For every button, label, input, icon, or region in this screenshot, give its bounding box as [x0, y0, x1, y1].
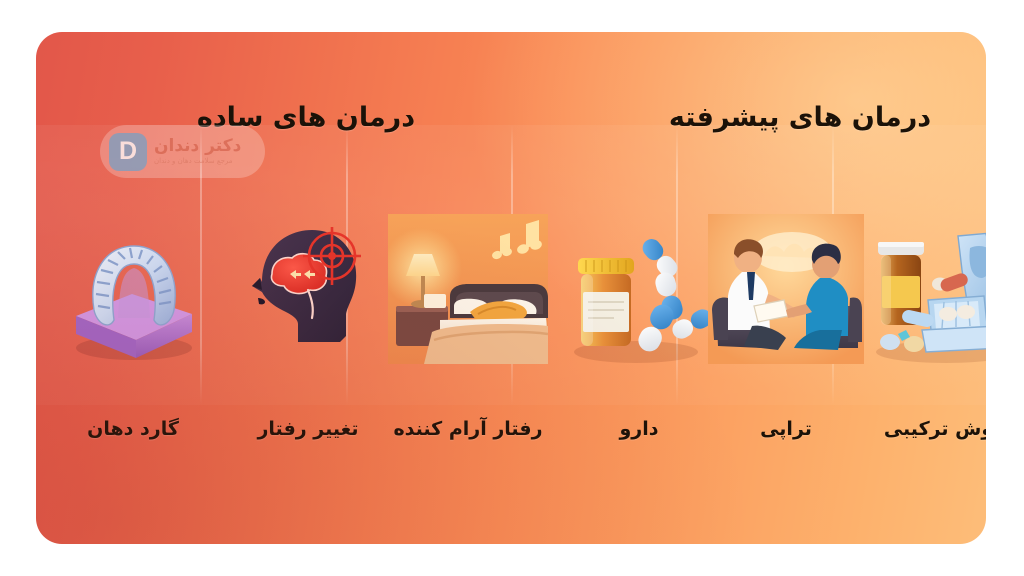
heading-advanced-treatments: درمان های پیشرفته	[654, 102, 946, 133]
tile-combined-approach[interactable]	[866, 218, 986, 373]
watermark-text: دکتر دندان مرجع سلامت دهان و دندان	[154, 138, 241, 165]
tile-label-mouth-guard: گارد دهان	[43, 418, 223, 440]
tile-medication[interactable]	[564, 220, 714, 375]
bedroom-relaxation-illustration	[388, 214, 548, 364]
combined-medication-tray-illustration	[866, 218, 986, 368]
infographic-card: درمان های ساده درمان های پیشرفته	[36, 32, 986, 544]
tile-label-behavior-change: تغییر رفتار	[218, 418, 398, 440]
head-brain-target-illustration	[232, 212, 382, 362]
brand-logo-letter: D	[119, 139, 137, 164]
tile-therapy[interactable]	[708, 214, 864, 369]
brand-logo-icon: D	[109, 133, 147, 171]
infographic-stage: درمان های ساده درمان های پیشرفته	[0, 0, 1024, 576]
mouth-guard-illustration	[58, 220, 208, 370]
watermark-badge: D دکتر دندان مرجع سلامت دهان و دندان	[100, 125, 265, 178]
tile-label-therapy: تراپی	[696, 418, 876, 440]
tile-label-calming-behavior: رفتار آرام کننده	[378, 418, 558, 440]
watermark-tagline: مرجع سلامت دهان و دندان	[154, 158, 233, 165]
watermark-title: دکتر دندان	[154, 138, 241, 156]
tile-behavior-change[interactable]	[232, 212, 382, 367]
tile-mouth-guard[interactable]	[58, 220, 208, 375]
therapy-session-illustration	[708, 214, 864, 364]
tile-calming-behavior[interactable]	[388, 214, 548, 369]
pill-bottle-capsules-illustration	[564, 220, 714, 370]
tile-label-combined-approach: روش ترکیبی	[854, 418, 986, 440]
